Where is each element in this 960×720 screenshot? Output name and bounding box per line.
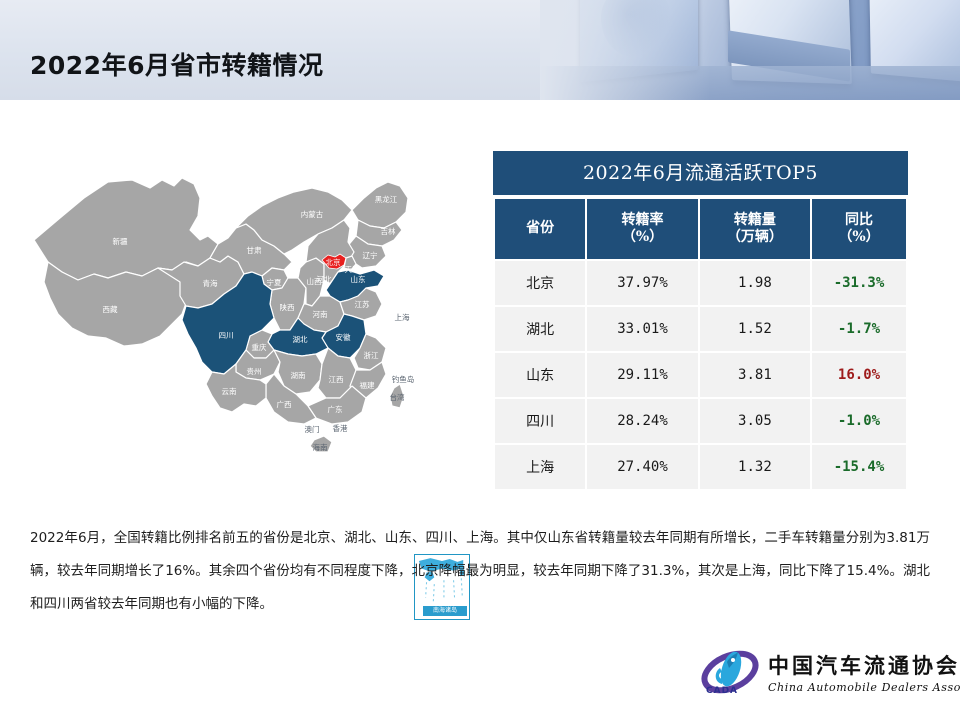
table-row: 上海 27.40% 1.32 -15.4% <box>495 445 906 489</box>
china-map-svg: 新疆 西藏 青海 甘肃 内蒙古 黑龙江 吉林 辽宁 河北 山西 宁夏 陕西 河南… <box>22 158 472 488</box>
table-body: 北京 37.97% 1.98 -31.3% 湖北 33.01% 1.52 -1.… <box>495 261 906 489</box>
column-header-line1: 省份 <box>495 220 585 238</box>
page-title: 2022年6月省市转籍情况 <box>30 46 323 82</box>
svg-text:云南: 云南 <box>222 386 237 396</box>
table-row: 山东 29.11% 3.81 16.0% <box>495 353 906 397</box>
svg-text:福建: 福建 <box>360 380 375 390</box>
table-header-row: 省份 转籍率 （%） 转籍量 （万辆） 同比 （%） <box>495 199 906 259</box>
svg-text:吉林: 吉林 <box>381 226 396 236</box>
svg-text:广西: 广西 <box>277 399 292 409</box>
cell-province: 上海 <box>495 445 585 489</box>
column-header-yoy: 同比 （%） <box>812 199 906 259</box>
column-header-line1: 转籍量 <box>700 212 810 230</box>
svg-text:辽宁: 辽宁 <box>363 250 378 260</box>
table-grid: 省份 转籍率 （%） 转籍量 （万辆） 同比 （%） <box>493 197 908 491</box>
cell-transfer-rate: 29.11% <box>587 353 698 397</box>
cell-yoy: -31.3% <box>812 261 906 305</box>
column-header-line1: 同比 <box>812 212 906 230</box>
logo-english-name: China Automobile Dealers Association <box>768 681 960 694</box>
svg-text:重庆: 重庆 <box>252 342 267 352</box>
svg-text:宁夏: 宁夏 <box>267 277 282 287</box>
top5-table: 2022年6月流通活跃TOP5 省份 转籍率 （%） 转籍量 （万辆） <box>493 151 908 491</box>
svg-text:山西: 山西 <box>307 276 322 286</box>
summary-paragraph: 2022年6月，全国转籍比例排名前五的省份是北京、湖北、山东、四川、上海。其中仅… <box>30 522 930 621</box>
cell-province: 湖北 <box>495 307 585 351</box>
cell-yoy: -1.7% <box>812 307 906 351</box>
svg-text:贵州: 贵州 <box>247 366 262 376</box>
cell-yoy: -15.4% <box>812 445 906 489</box>
svg-text:天津: 天津 <box>345 265 360 274</box>
column-header-transfer-volume: 转籍量 （万辆） <box>700 199 810 259</box>
cell-transfer-rate: 27.40% <box>587 445 698 489</box>
slide-root: 2022年6月省市转籍情况 <box>0 0 960 720</box>
svg-text:浙江: 浙江 <box>364 350 379 360</box>
svg-text:黑龙江: 黑龙江 <box>375 194 398 204</box>
cell-transfer-rate: 28.24% <box>587 399 698 443</box>
svg-text:湖南: 湖南 <box>291 370 306 380</box>
svg-text:广东: 广东 <box>328 404 343 414</box>
svg-text:江西: 江西 <box>329 375 344 384</box>
cell-yoy: -1.0% <box>812 399 906 443</box>
cell-transfer-volume: 1.32 <box>700 445 810 489</box>
cell-transfer-volume: 1.98 <box>700 261 810 305</box>
column-header-line1: 转籍率 <box>587 212 698 230</box>
svg-text:西藏: 西藏 <box>103 304 118 314</box>
svg-text:香港: 香港 <box>333 423 348 433</box>
china-map: 新疆 西藏 青海 甘肃 内蒙古 黑龙江 吉林 辽宁 河北 山西 宁夏 陕西 河南… <box>22 158 472 488</box>
cell-province: 山东 <box>495 353 585 397</box>
logo-chinese-name: 中国汽车流通协会 <box>768 650 960 680</box>
cell-yoy: 16.0% <box>812 353 906 397</box>
svg-text:陕西: 陕西 <box>280 302 295 312</box>
cell-province: 北京 <box>495 261 585 305</box>
cell-transfer-volume: 1.52 <box>700 307 810 351</box>
slide-header: 2022年6月省市转籍情况 <box>0 0 960 100</box>
column-header-line2: （%） <box>812 229 906 247</box>
column-header-line2: （%） <box>587 229 698 247</box>
table-row: 湖北 33.01% 1.52 -1.7% <box>495 307 906 351</box>
svg-text:河南: 河南 <box>313 309 328 319</box>
svg-text:新疆: 新疆 <box>113 236 128 246</box>
svg-text:海南: 海南 <box>313 442 328 452</box>
header-decoration-image <box>540 0 960 100</box>
decorative-fade <box>540 0 710 100</box>
cada-logo: CADA 中国汽车流通协会 China Automobile Dealers A… <box>700 646 940 708</box>
svg-text:江苏: 江苏 <box>355 299 370 309</box>
svg-text:甘肃: 甘肃 <box>247 245 262 255</box>
cada-abbr-label: CADA <box>706 686 738 696</box>
cell-transfer-volume: 3.05 <box>700 399 810 443</box>
svg-text:澳门: 澳门 <box>305 424 320 434</box>
cell-province: 四川 <box>495 399 585 443</box>
svg-text:钓鱼岛: 钓鱼岛 <box>392 374 415 384</box>
svg-text:台湾: 台湾 <box>390 392 405 402</box>
cell-transfer-rate: 33.01% <box>587 307 698 351</box>
svg-text:青海: 青海 <box>203 278 218 288</box>
svg-text:北京: 北京 <box>326 257 341 267</box>
column-header-province: 省份 <box>495 199 585 259</box>
svg-text:内蒙古: 内蒙古 <box>301 209 324 219</box>
cell-transfer-rate: 37.97% <box>587 261 698 305</box>
table-title: 2022年6月流通活跃TOP5 <box>493 151 908 195</box>
svg-text:四川: 四川 <box>219 331 234 340</box>
column-header-line2: （万辆） <box>700 229 810 247</box>
cell-transfer-volume: 3.81 <box>700 353 810 397</box>
svg-text:上海: 上海 <box>395 312 410 322</box>
column-header-transfer-rate: 转籍率 （%） <box>587 199 698 259</box>
svg-text:安徽: 安徽 <box>336 332 351 342</box>
svg-text:山东: 山东 <box>351 274 366 284</box>
table-row: 北京 37.97% 1.98 -31.3% <box>495 261 906 305</box>
table-row: 四川 28.24% 3.05 -1.0% <box>495 399 906 443</box>
svg-text:湖北: 湖北 <box>293 335 308 344</box>
